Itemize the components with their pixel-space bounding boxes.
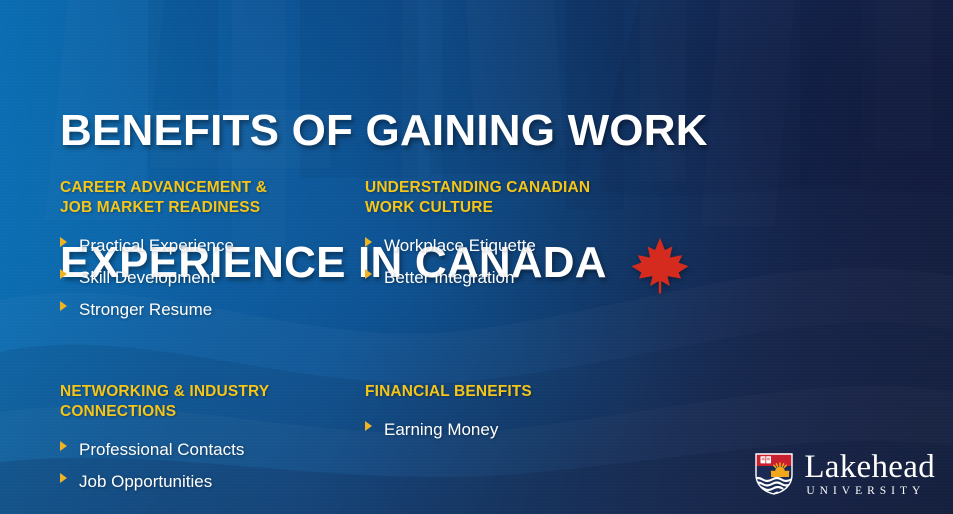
list-item-label: Skill Development bbox=[79, 262, 215, 294]
list-item-label: Better Integration bbox=[384, 262, 514, 294]
section-career-advancement: CAREER ADVANCEMENT & JOB MARKET READINES… bbox=[60, 178, 365, 326]
logo-wordmark: Lakehead UNIVERSITY bbox=[804, 451, 935, 498]
list-item: Better Integration bbox=[365, 262, 705, 294]
benefits-columns: CAREER ADVANCEMENT & JOB MARKET READINES… bbox=[60, 178, 760, 498]
section-financial-benefits: FINANCIAL BENEFITS Earning Money bbox=[365, 382, 705, 498]
logo-name: Lakehead bbox=[804, 451, 935, 483]
logo-subtitle: UNIVERSITY bbox=[804, 486, 935, 498]
section-bullet-list: Earning Money bbox=[365, 414, 705, 446]
triangle-bullet-icon bbox=[365, 237, 372, 247]
section-bullet-list: Workplace Etiquette Better Integration bbox=[365, 230, 705, 294]
list-item-label: Earning Money bbox=[384, 414, 498, 446]
section-bullet-list: Professional Contacts Job Opportunities bbox=[60, 434, 365, 498]
triangle-bullet-icon bbox=[60, 269, 67, 279]
triangle-bullet-icon bbox=[60, 237, 67, 247]
triangle-bullet-icon bbox=[365, 421, 372, 431]
list-item: Earning Money bbox=[365, 414, 705, 446]
list-item-label: Job Opportunities bbox=[79, 466, 212, 498]
section-heading: NETWORKING & INDUSTRY CONNECTIONS bbox=[60, 382, 365, 422]
triangle-bullet-icon bbox=[60, 441, 67, 451]
list-item-label: Professional Contacts bbox=[79, 434, 244, 466]
lakehead-university-logo: Lakehead UNIVERSITY bbox=[755, 451, 935, 498]
lakehead-crest-icon bbox=[755, 453, 793, 495]
triangle-bullet-icon bbox=[60, 473, 67, 483]
section-bullet-list: Practical Experience Skill Development S… bbox=[60, 230, 365, 326]
list-item: Skill Development bbox=[60, 262, 365, 294]
list-item-label: Stronger Resume bbox=[79, 294, 212, 326]
list-item: Job Opportunities bbox=[60, 466, 365, 498]
section-understanding-canadian-work-culture: UNDERSTANDING CANADIAN WORK CULTURE Work… bbox=[365, 178, 705, 326]
section-heading: UNDERSTANDING CANADIAN WORK CULTURE bbox=[365, 178, 705, 218]
slide-content: BENEFITS OF GAINING WORK EXPERIENCE IN C… bbox=[0, 0, 953, 514]
title-line-1: BENEFITS OF GAINING WORK bbox=[60, 98, 790, 164]
section-heading: FINANCIAL BENEFITS bbox=[365, 382, 705, 402]
list-item-label: Practical Experience bbox=[79, 230, 234, 262]
list-item: Workplace Etiquette bbox=[365, 230, 705, 262]
list-item: Practical Experience bbox=[60, 230, 365, 262]
slide-canvas: BENEFITS OF GAINING WORK EXPERIENCE IN C… bbox=[0, 0, 953, 514]
section-heading: CAREER ADVANCEMENT & JOB MARKET READINES… bbox=[60, 178, 365, 218]
triangle-bullet-icon bbox=[365, 269, 372, 279]
list-item: Professional Contacts bbox=[60, 434, 365, 466]
list-item: Stronger Resume bbox=[60, 294, 365, 326]
list-item-label: Workplace Etiquette bbox=[384, 230, 536, 262]
triangle-bullet-icon bbox=[60, 301, 67, 311]
section-networking-industry-connections: NETWORKING & INDUSTRY CONNECTIONS Profes… bbox=[60, 382, 365, 498]
